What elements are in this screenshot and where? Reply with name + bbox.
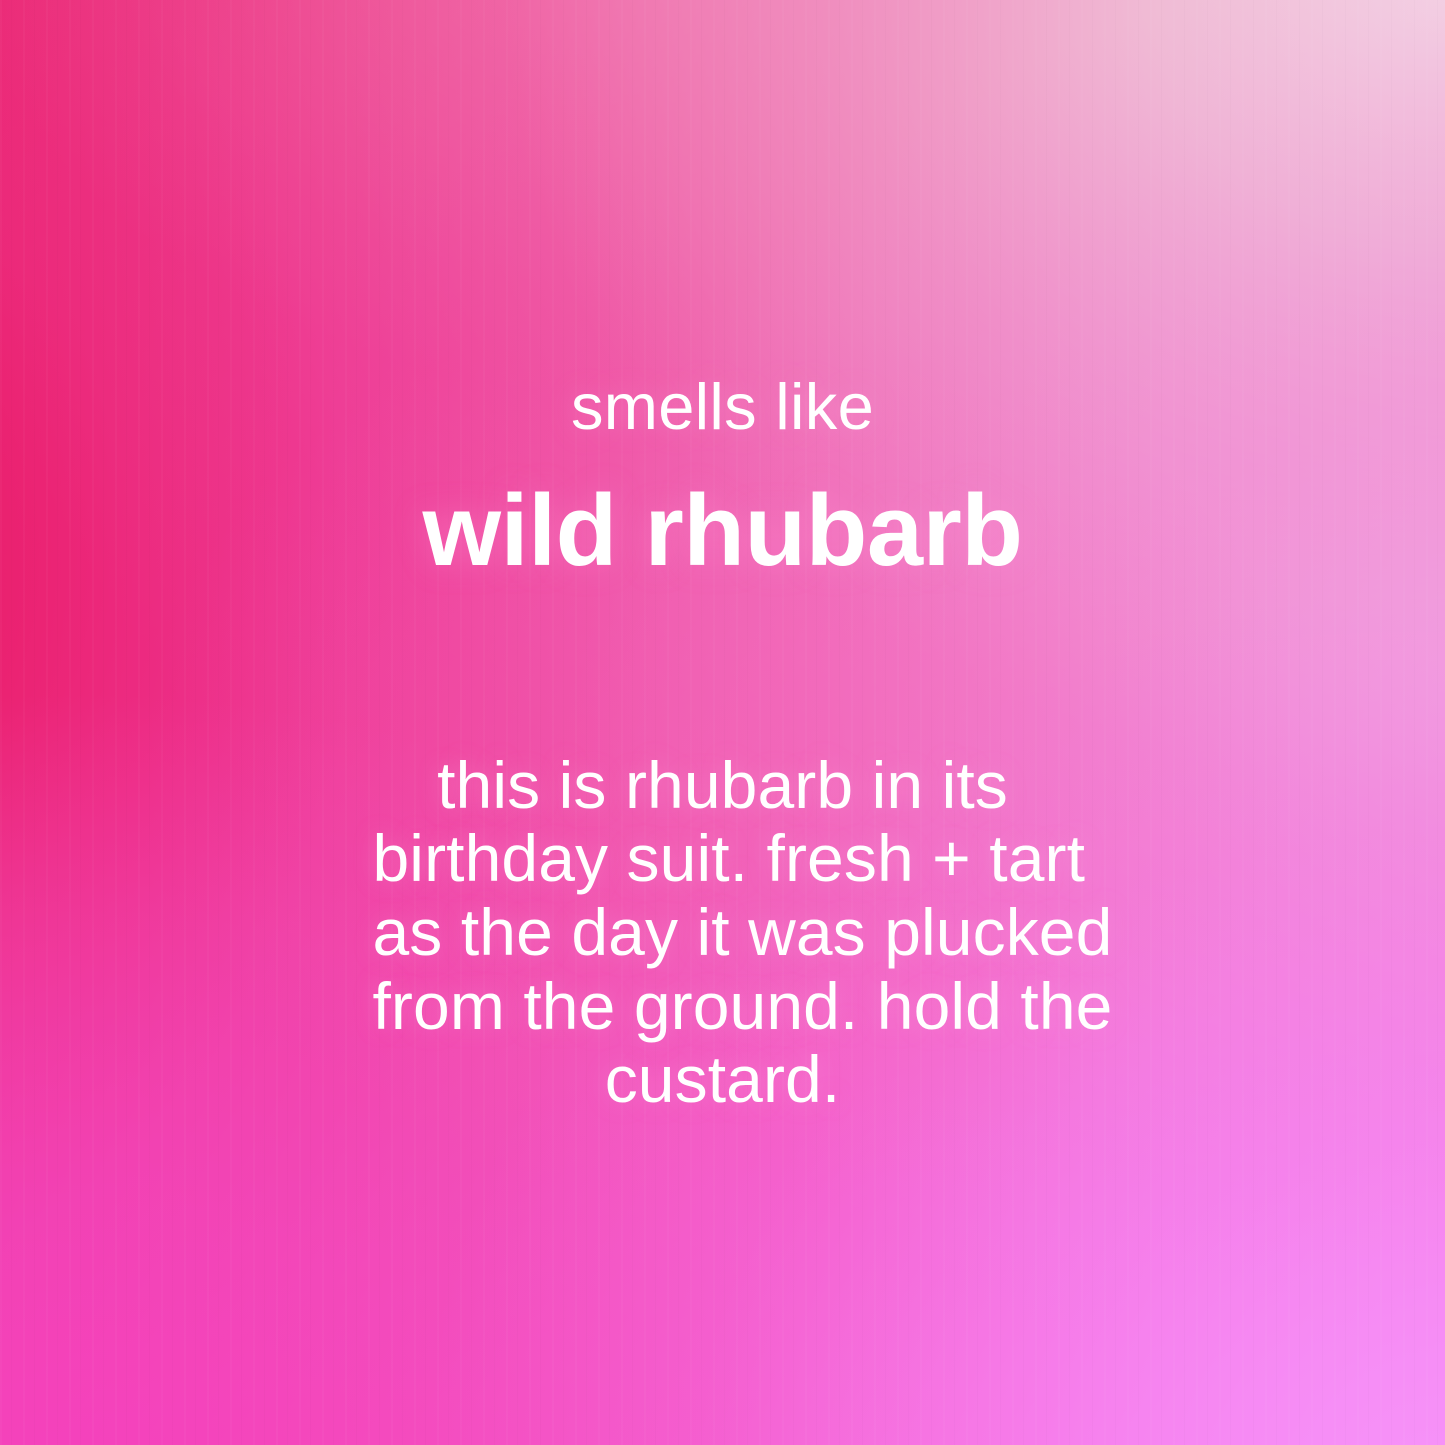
description-line: from the ground. hold the	[373, 970, 1073, 1044]
description-paragraph: this is rhubarb in its birthday suit. fr…	[373, 749, 1073, 1117]
description-line: this is rhubarb in its	[373, 749, 1073, 823]
description-line: birthday suit. fresh + tart	[373, 822, 1073, 896]
fragrance-promo-card: smells like wild rhubarb this is rhubarb…	[0, 0, 1445, 1445]
page-title: wild rhubarb	[423, 478, 1023, 585]
card-content: smells like wild rhubarb this is rhubarb…	[0, 0, 1445, 1445]
description-line: as the day it was plucked	[373, 896, 1073, 970]
description-line: custard.	[373, 1043, 1073, 1117]
eyebrow-label: smells like	[571, 372, 874, 442]
